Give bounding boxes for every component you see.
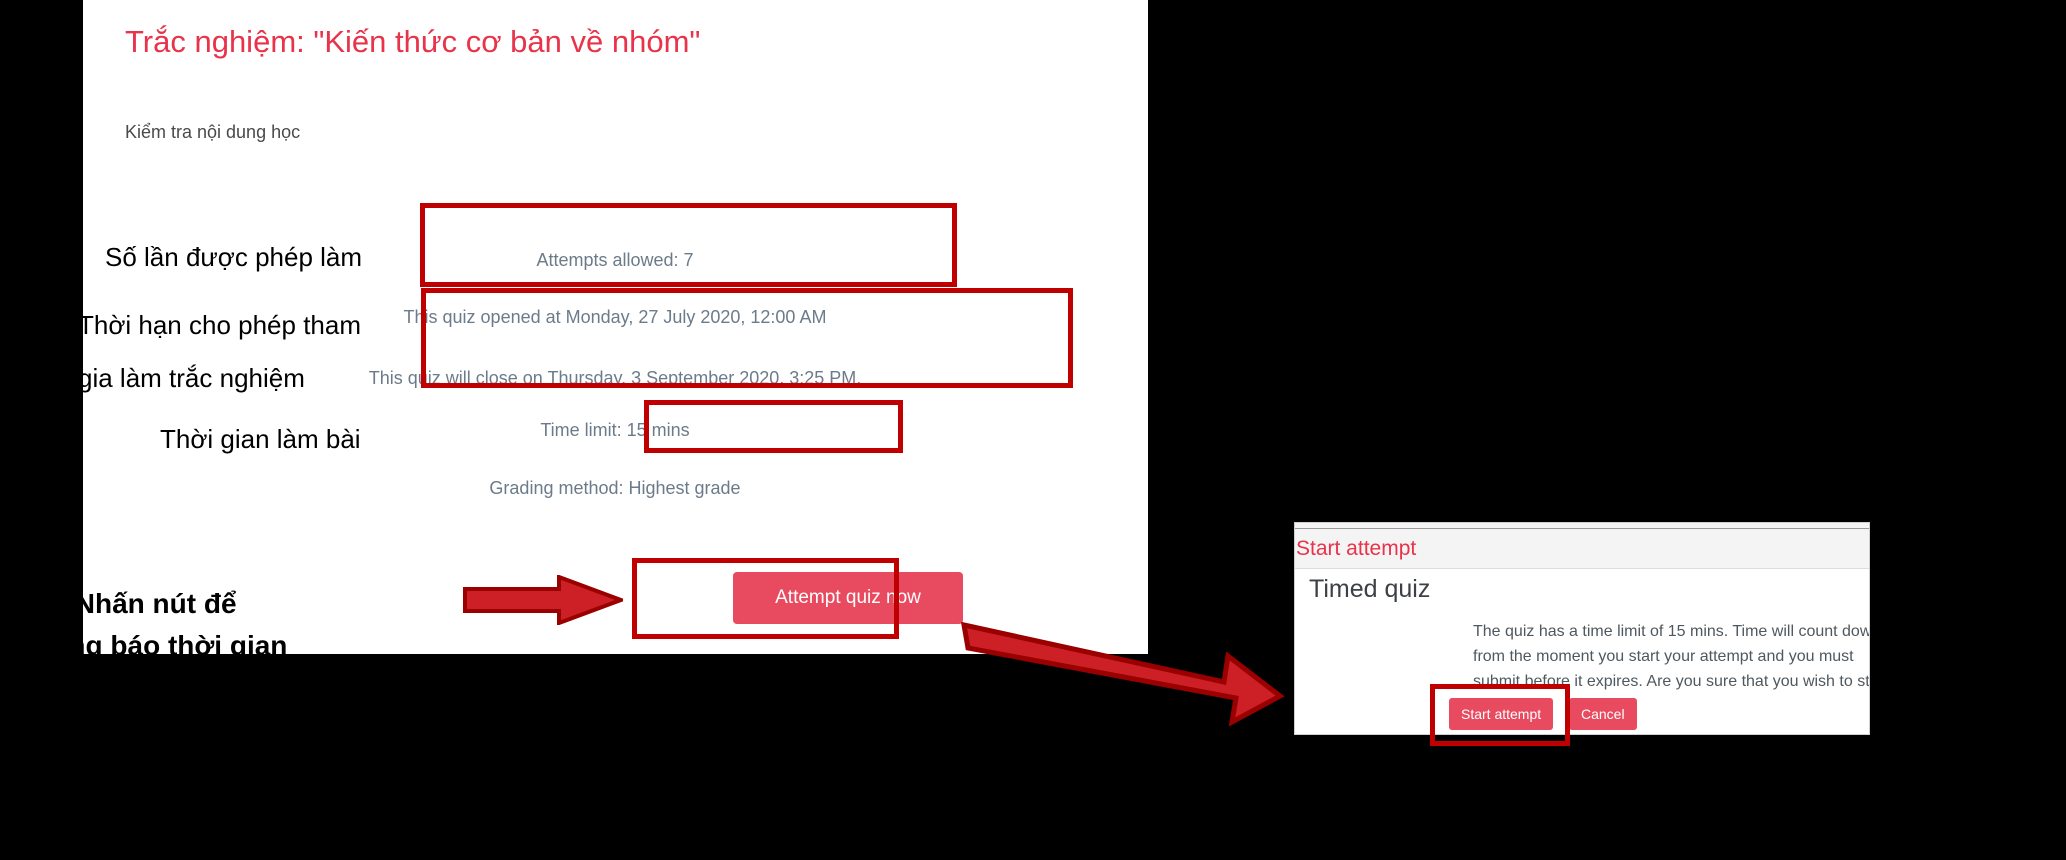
label-attempts-allowed: Số lần được phép làm xyxy=(105,242,362,273)
right-arrow-icon xyxy=(463,575,623,625)
dialog-header: Start attempt xyxy=(1295,529,1869,569)
quiz-subtitle: Kiểm tra nội dung học xyxy=(125,122,300,143)
label-deadline-line2: gia làm trắc nghiệm xyxy=(78,363,305,394)
dialog-cancel-button[interactable]: Cancel xyxy=(1569,698,1637,730)
annotation-box-attempt-button xyxy=(632,558,899,639)
diagonal-right-arrow-icon xyxy=(960,600,1320,760)
annotation-box-quiz-timing xyxy=(421,288,1073,388)
step-instruction-text: ực 2. Nhấn nút để n thông báo thời gian xyxy=(0,583,287,667)
annotation-box-time-limit xyxy=(644,400,903,453)
label-quiz-duration: Thời gian làm bài xyxy=(160,424,361,455)
page-title: Trắc nghiệm: "Kiến thức cơ bản về nhóm" xyxy=(125,24,700,60)
step-instruction-line2: n thông báo thời gian xyxy=(0,625,287,667)
annotation-box-dialog-start-button xyxy=(1430,684,1570,746)
grading-method-text: Grading method: Highest grade xyxy=(125,478,1105,499)
annotation-box-attempts-allowed xyxy=(420,203,957,287)
dialog-title: Start attempt xyxy=(1296,537,1416,561)
step-instruction-line1: ực 2. Nhấn nút để xyxy=(0,583,287,625)
dialog-heading: Timed quiz xyxy=(1309,575,1430,604)
label-deadline-line1: Thời hạn cho phép tham xyxy=(78,310,361,341)
